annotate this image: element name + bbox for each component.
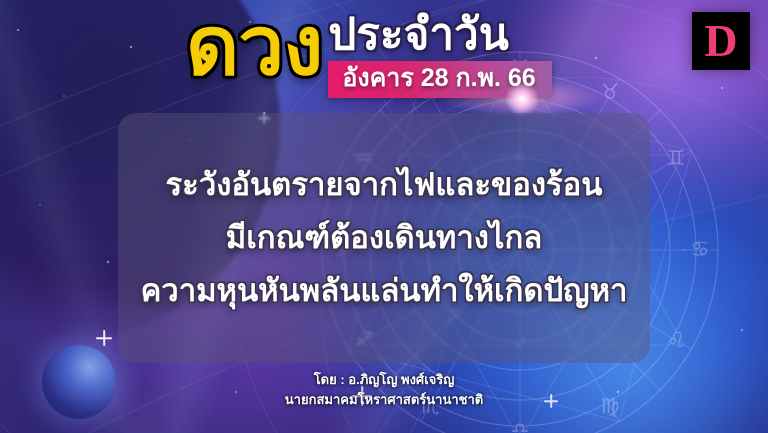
header: ดวง ประจำวัน อังคาร 28 ก.พ. 66 D	[0, 0, 768, 112]
page-title-main: ดวง	[186, 6, 322, 87]
author-title: นายกสมาคมโหราศาสตร์นานาชาติ	[0, 390, 768, 410]
horoscope-graphic: ♈ ♉ ♊ ♋ ♌ ♍ ♎ ♏ ♐ ♑ ♒ ♓ ♌ ♍ ♎ ♏ ♐ ♑ ♒ ♓	[0, 0, 768, 433]
fortune-line-1: ระวังอันตรายจากไฟและของร้อน	[166, 168, 603, 202]
fortune-panel: ระวังอันตรายจากไฟและของร้อน มีเกณฑ์ต้องเ…	[118, 113, 650, 363]
svg-text:♎: ♎	[511, 418, 530, 433]
fortune-line-3: ความหุนหันพลันแล่นทำให้เกิดปัญหา	[141, 274, 628, 308]
fortune-lines: ระวังอันตรายจากไฟและของร้อน มีเกณฑ์ต้องเ…	[118, 113, 650, 363]
daily-news-logo[interactable]: D	[692, 12, 750, 70]
logo-letter: D	[704, 18, 737, 64]
flare-core	[505, 82, 539, 116]
page-title-sub: ประจำวัน	[328, 12, 551, 58]
svg-text:♋: ♋	[691, 237, 710, 261]
author-name: โดย : อ.ภิญโญ พงศ์เจริญ	[0, 370, 768, 390]
title-block: ดวง ประจำวัน อังคาร 28 ก.พ. 66	[186, 6, 552, 98]
svg-text:♊: ♊	[667, 146, 686, 170]
credit-footer: โดย : อ.ภิญโญ พงศ์เจริญ นายกสมาคมโหราศาส…	[0, 370, 768, 410]
fortune-line-2: มีเกณฑ์ต้องเดินทางไกล	[226, 221, 542, 255]
svg-text:♌: ♌	[667, 328, 686, 352]
